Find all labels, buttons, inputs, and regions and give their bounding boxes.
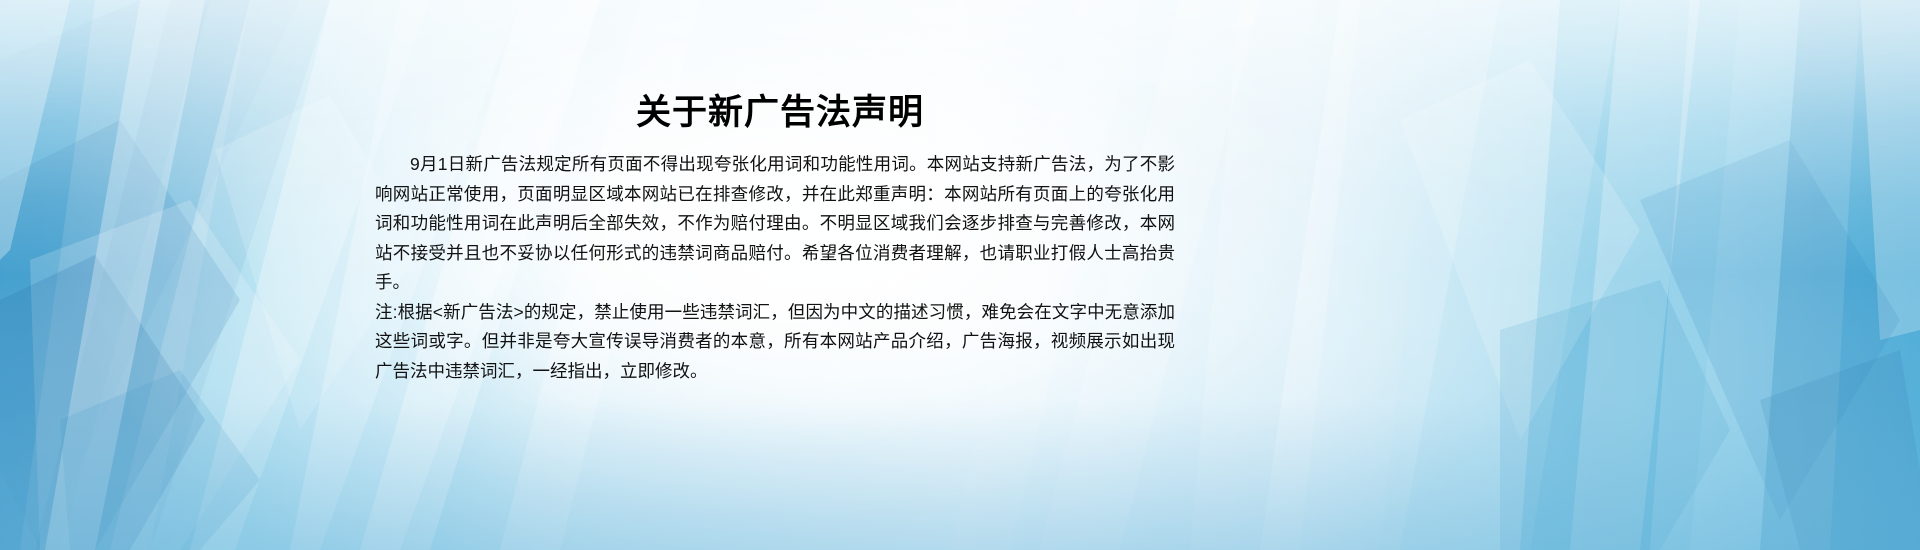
banner-content: 关于新广告法声明 9月1日新广告法规定所有页面不得出现夸张化用词和功能性用词。本… [0, 0, 1920, 550]
statement-paragraph-note: 注:根据<新广告法>的规定，禁止使用一些违禁词汇，但因为中文的描述习惯，难免会在… [375, 298, 1175, 387]
advertising-law-statement-banner: 关于新广告法声明 9月1日新广告法规定所有页面不得出现夸张化用词和功能性用词。本… [0, 0, 1920, 550]
statement-body: 9月1日新广告法规定所有页面不得出现夸张化用词和功能性用词。本网站支持新广告法，… [375, 150, 1175, 386]
statement-paragraph-main: 9月1日新广告法规定所有页面不得出现夸张化用词和功能性用词。本网站支持新广告法，… [375, 150, 1175, 298]
page-title: 关于新广告法声明 [0, 92, 1560, 134]
